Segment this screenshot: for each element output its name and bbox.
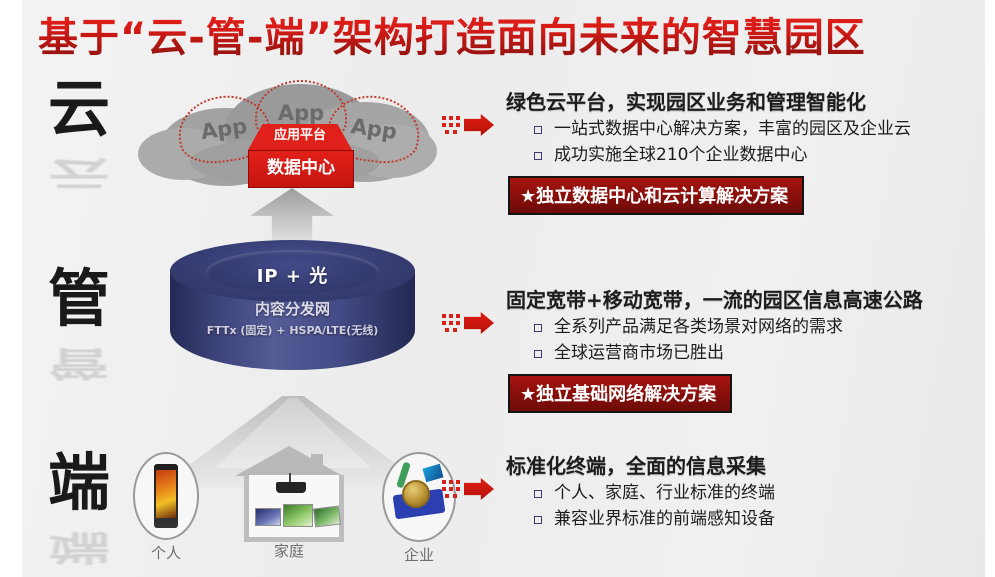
smartphone-screen [156,470,176,518]
section-headline: 绿色云平台，实现园区业务和管理智能化 [506,86,985,115]
page-title: 基于“云-管-端”架构打造面向未来的智慧园区 [38,10,938,66]
arrow-head [464,478,494,500]
list-item: 全球运营商市场已胜出 [554,341,985,367]
house-roof [235,446,343,476]
application-platform-label: 应用平台 [248,124,352,150]
smartphone-body [154,464,178,528]
smartphone-icon [133,452,199,540]
device-group-home: 家庭 [224,446,354,561]
cylinder-cdn-label: 内容分发网 [170,298,415,319]
list-item: 个人、家庭、行业标准的终端 [554,481,985,507]
laptop-icon [255,508,281,526]
bullet-list: 全系列产品满足各类场景对网络的需求 全球运营商市场已胜出 [442,315,985,366]
device-label-home: 家庭 [224,540,354,561]
section-terminal: 标准化终端，全面的信息采集 个人、家庭、行业标准的终端 兼容业界标准的前端感知设… [442,450,985,532]
tablet-icon [313,505,341,527]
device-group-personal: 个人 [128,452,204,563]
network-cylinder-graphic: IP + 光 内容分发网 FTTx (固定) + HSPA/LTE(无线) [170,240,415,392]
section-headline: 固定宽带+移动宽带，一流的园区信息高速公路 [506,284,985,313]
layer-label-pipe-reflection: 管 [36,346,122,380]
cloud-graphic: App App App 应用平台 数据中心 [130,78,450,203]
router-icon [276,482,306,493]
tv-icon [283,504,313,527]
layer-label-cloud-reflection: 云 [36,156,122,190]
list-item: 兼容业界标准的前端感知设备 [554,507,985,533]
red-arrow-icon [442,108,502,142]
arrow-head [464,312,494,334]
arrow-dots [442,480,464,499]
status-badge: ★独立数据中心和云计算解决方案 [508,176,804,215]
datacenter-label: 数据中心 [248,150,354,188]
section-cloud: 绿色云平台，实现园区业务和管理智能化 一站式数据中心解决方案，丰富的园区及企业云… [442,86,985,215]
bullet-list: 个人、家庭、行业标准的终端 兼容业界标准的前端感知设备 [442,481,985,532]
meter-blue-part [422,464,443,482]
list-item: 全系列产品满足各类场景对网络的需求 [554,315,985,341]
arrow-head [464,114,494,136]
device-label-enterprise: 企业 [377,544,461,565]
layer-label-pipe-text: 管 [48,262,110,335]
slide-canvas: 基于“云-管-端”架构打造面向未来的智慧园区 云 云 管 管 端 端 App A… [22,0,985,577]
layer-label-terminal: 端 端 [36,452,122,577]
status-badge: ★独立基础网络解决方案 [508,374,732,413]
meter-dial [402,480,430,508]
house-icon [235,446,343,538]
section-headline: 标准化终端，全面的信息采集 [506,450,985,479]
section-pipe: 固定宽带+移动宽带，一流的园区信息高速公路 全系列产品满足各类场景对网络的需求 … [442,284,985,413]
red-arrow-icon [442,306,502,340]
bullet-list: 一站式数据中心解决方案，丰富的园区及企业云 成功实施全球210个企业数据中心 [442,117,985,168]
layer-label-terminal-reflection: 端 [36,530,122,564]
device-label-personal: 个人 [128,542,204,563]
cylinder-access-label: FTTx (固定) + HSPA/LTE(无线) [170,322,415,338]
layer-label-pipe: 管 管 [36,268,122,394]
layer-label-cloud-text: 云 [48,72,110,145]
red-arrow-icon [442,472,502,506]
list-item: 一站式数据中心解决方案，丰富的园区及企业云 [554,117,985,143]
arrow-dots [442,116,464,135]
arrow-dots [442,314,464,333]
layer-label-cloud: 云 云 [36,78,122,204]
list-item: 成功实施全球210个企业数据中心 [554,143,985,169]
layer-label-terminal-text: 端 [48,446,110,519]
cylinder-ip-label: IP + 光 [170,262,415,288]
datacenter-block: 应用平台 数据中心 [248,124,352,186]
